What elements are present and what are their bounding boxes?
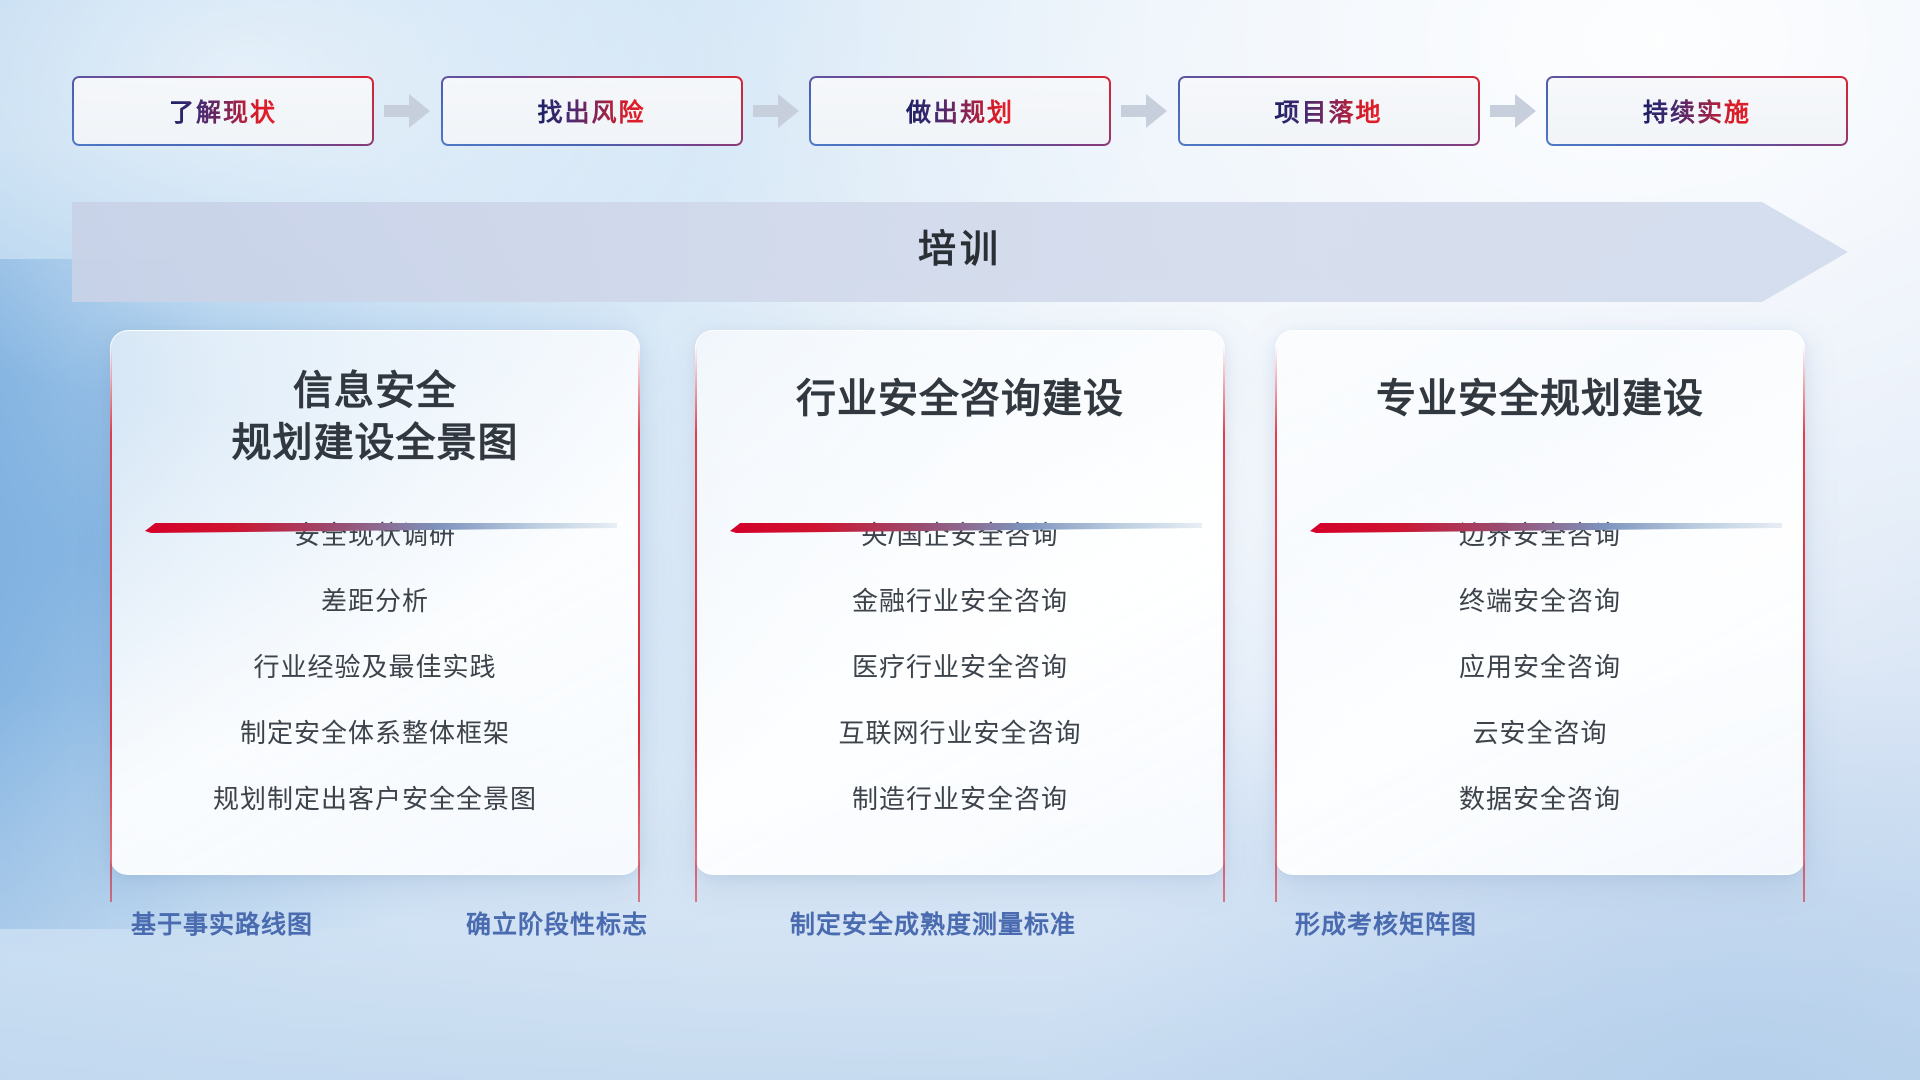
card-1-title-line-2: 规划建设全景图 <box>153 417 597 469</box>
list-item: 规划制定出客户安全全景图 <box>213 786 537 812</box>
process-step-4-label: 项目落地 <box>1274 93 1382 129</box>
card-2-title-line-1: 行业安全咨询建设 <box>738 373 1182 425</box>
process-arrow-2 <box>743 91 810 131</box>
bottom-label-2: 确立阶段性标志 <box>466 905 648 941</box>
process-step-5[interactable]: 持续实施 <box>1546 76 1848 146</box>
card-3-title: 专业安全规划建设 <box>1318 373 1762 425</box>
process-step-strip: 了解现状 找出风险 做出规划 项目落地 持续实施 <box>72 73 1848 148</box>
card-3-title-line-1: 专业安全规划建设 <box>1318 373 1762 425</box>
chevron-right-arrow-icon <box>384 94 430 128</box>
process-step-3[interactable]: 做出规划 <box>809 76 1111 146</box>
list-item: 边界安全咨询 <box>1459 522 1621 548</box>
card-2-item-list: 央/国企安全咨询 金融行业安全咨询 医疗行业安全咨询 互联网行业安全咨询 制造行… <box>696 522 1224 874</box>
bottom-label-3: 制定安全成熟度测量标准 <box>790 905 1076 941</box>
list-item: 医疗行业安全咨询 <box>852 654 1068 680</box>
list-item: 应用安全咨询 <box>1459 654 1621 680</box>
list-item: 金融行业安全咨询 <box>852 588 1068 614</box>
list-item: 数据安全咨询 <box>1459 786 1621 812</box>
card-2-title: 行业安全咨询建设 <box>738 373 1182 425</box>
list-item: 安全现状调研 <box>294 522 456 548</box>
process-arrow-4 <box>1480 91 1547 131</box>
bottom-label-row: 基于事实路线图 确立阶段性标志 制定安全成熟度测量标准 形成考核矩阵图 <box>0 905 1920 965</box>
process-step-1-label: 了解现状 <box>169 93 277 129</box>
process-step-4[interactable]: 项目落地 <box>1178 76 1480 146</box>
card-1-title: 信息安全 规划建设全景图 <box>153 365 597 469</box>
process-step-2[interactable]: 找出风险 <box>441 76 743 146</box>
process-arrow-3 <box>1111 91 1178 131</box>
card-information-security-blueprint[interactable]: 信息安全 规划建设全景图 安全现状调研 差 <box>110 330 640 875</box>
list-item: 互联网行业安全咨询 <box>838 720 1081 746</box>
card-1-item-list: 安全现状调研 差距分析 行业经验及最佳实践 制定安全体系整体框架 规划制定出客户… <box>111 522 639 874</box>
process-arrow-1 <box>374 91 441 131</box>
list-item: 行业经验及最佳实践 <box>253 654 496 680</box>
list-item: 央/国企安全咨询 <box>861 522 1058 548</box>
card-industry-security-consulting[interactable]: 行业安全咨询建设 央/国企安全咨询 金融行业安全咨询 <box>695 330 1225 875</box>
process-step-1[interactable]: 了解现状 <box>72 76 374 146</box>
bottom-label-4: 形成考核矩阵图 <box>1295 905 1477 941</box>
chevron-right-arrow-icon <box>753 94 799 128</box>
list-item: 云安全咨询 <box>1472 720 1607 746</box>
chevron-right-arrow-icon <box>1490 94 1536 128</box>
process-step-3-label: 做出规划 <box>906 93 1014 129</box>
cards-row: 信息安全 规划建设全景图 安全现状调研 差 <box>0 330 1920 890</box>
list-item: 制造行业安全咨询 <box>852 786 1068 812</box>
card-1-title-line-1: 信息安全 <box>153 365 597 417</box>
chevron-right-arrow-icon <box>1121 94 1167 128</box>
card-professional-security-planning[interactable]: 专业安全规划建设 边界安全咨询 终端安全咨询 <box>1275 330 1805 875</box>
process-step-5-label: 持续实施 <box>1643 93 1751 129</box>
training-banner-label: 培训 <box>0 218 1920 273</box>
list-item: 差距分析 <box>321 588 429 614</box>
card-3-item-list: 边界安全咨询 终端安全咨询 应用安全咨询 云安全咨询 数据安全咨询 <box>1276 522 1804 874</box>
bottom-label-1: 基于事实路线图 <box>131 905 313 941</box>
process-step-2-label: 找出风险 <box>537 93 645 129</box>
list-item: 制定安全体系整体框架 <box>240 720 510 746</box>
list-item: 终端安全咨询 <box>1459 588 1621 614</box>
